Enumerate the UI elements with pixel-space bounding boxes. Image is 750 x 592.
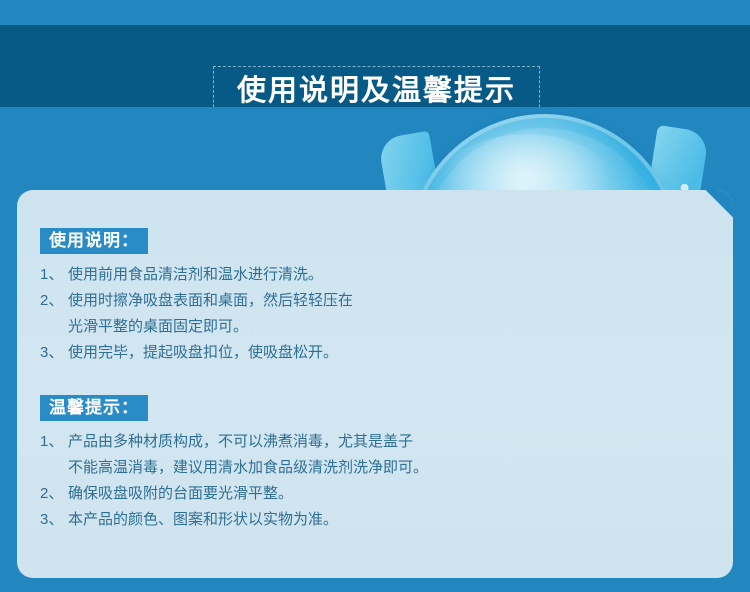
panel-corner-fold	[705, 190, 733, 218]
list-item-text: 使用时擦净吸盘表面和桌面，然后轻轻压在	[68, 288, 353, 314]
list-item-number: 1、	[40, 429, 68, 455]
page-title: 使用说明及温馨提示	[237, 77, 516, 106]
list-item: 3、 本产品的颜色、图案和形状以实物为准。	[40, 507, 428, 533]
section-tips: 温馨提示： 1、 产品由多种材质构成，不可以沸煮消毒，尤其是盖子 不能高温消毒，…	[40, 395, 428, 533]
list-item-number: 3、	[40, 340, 68, 366]
below-header-band	[0, 107, 750, 197]
instructions-panel: 使用说明： 1、 使用前用食品清洁剂和温水进行清洗。 2、 使用时擦净吸盘表面和…	[17, 190, 733, 578]
list-item-continuation: 不能高温消毒，建议用清水加食品级清洗剂洗净即可。	[40, 455, 428, 481]
list-item-continuation: 光滑平整的桌面固定即可。	[40, 314, 353, 340]
header-band: 使用说明及温馨提示	[0, 25, 750, 107]
top-accent-band	[0, 0, 750, 25]
page-root: 使用说明及温馨提示 kidsme	[0, 0, 750, 592]
list-item-number: 3、	[40, 507, 68, 533]
list-item-text: 产品由多种材质构成，不可以沸煮消毒，尤其是盖子	[68, 429, 428, 455]
section-usage: 使用说明： 1、 使用前用食品清洁剂和温水进行清洗。 2、 使用时擦净吸盘表面和…	[40, 228, 353, 366]
list-item: 3、 使用完毕，提起吸盘扣位，使吸盘松开。	[40, 340, 353, 366]
list-item: 2、 使用时擦净吸盘表面和桌面，然后轻轻压在	[40, 288, 353, 314]
list-item-text: 使用前用食品清洁剂和温水进行清洗。	[68, 262, 353, 288]
list-item-number: 2、	[40, 288, 68, 314]
list-item-text: 光滑平整的桌面固定即可。	[68, 314, 353, 340]
list-item-text: 本产品的颜色、图案和形状以实物为准。	[68, 507, 428, 533]
list-item-text: 使用完毕，提起吸盘扣位，使吸盘松开。	[68, 340, 353, 366]
section-tips-list: 1、 产品由多种材质构成，不可以沸煮消毒，尤其是盖子 不能高温消毒，建议用清水加…	[40, 429, 428, 533]
section-usage-list: 1、 使用前用食品清洁剂和温水进行清洗。 2、 使用时擦净吸盘表面和桌面，然后轻…	[40, 262, 353, 366]
section-usage-heading: 使用说明：	[40, 228, 148, 254]
list-item: 1、 使用前用食品清洁剂和温水进行清洗。	[40, 262, 353, 288]
list-item: 1、 产品由多种材质构成，不可以沸煮消毒，尤其是盖子	[40, 429, 428, 455]
list-item: 2、 确保吸盘吸附的台面要光滑平整。	[40, 481, 428, 507]
list-item-text: 不能高温消毒，建议用清水加食品级清洗剂洗净即可。	[68, 455, 428, 481]
list-item-number: 2、	[40, 481, 68, 507]
list-item-text: 确保吸盘吸附的台面要光滑平整。	[68, 481, 428, 507]
list-item-number: 1、	[40, 262, 68, 288]
section-tips-heading: 温馨提示：	[40, 395, 148, 421]
